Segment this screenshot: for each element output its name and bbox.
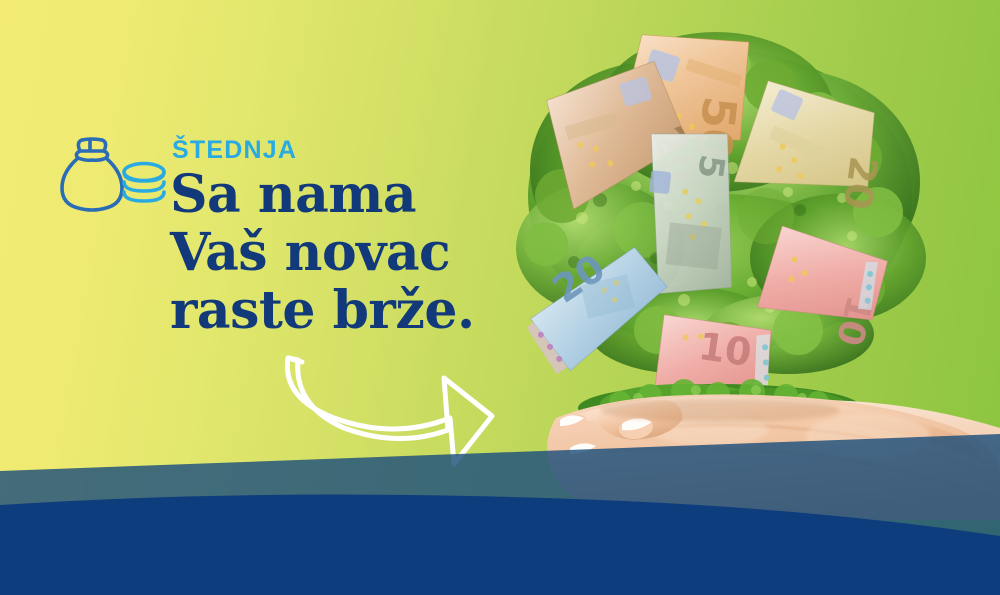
money-tree-illustration: 50 20 xyxy=(470,0,1000,520)
headline-line-3: raste brže. xyxy=(170,282,475,340)
svg-text:20: 20 xyxy=(835,154,886,212)
savings-banner: 50 20 xyxy=(0,0,1000,595)
curved-arrow-graphic xyxy=(278,344,508,479)
open-palm-hand xyxy=(547,394,1000,520)
money-bag-icon xyxy=(62,139,122,210)
eyebrow-label: ŠTEDNJA xyxy=(172,138,297,163)
coin-stack-icon xyxy=(124,164,164,202)
headline-line-2: Vaš novac xyxy=(170,224,475,282)
page-title: Sa nama Vaš novac raste brže. xyxy=(170,166,475,340)
savings-icon-group xyxy=(58,136,168,216)
svg-text:10: 10 xyxy=(696,324,754,375)
headline-line-1: Sa nama xyxy=(170,166,475,224)
